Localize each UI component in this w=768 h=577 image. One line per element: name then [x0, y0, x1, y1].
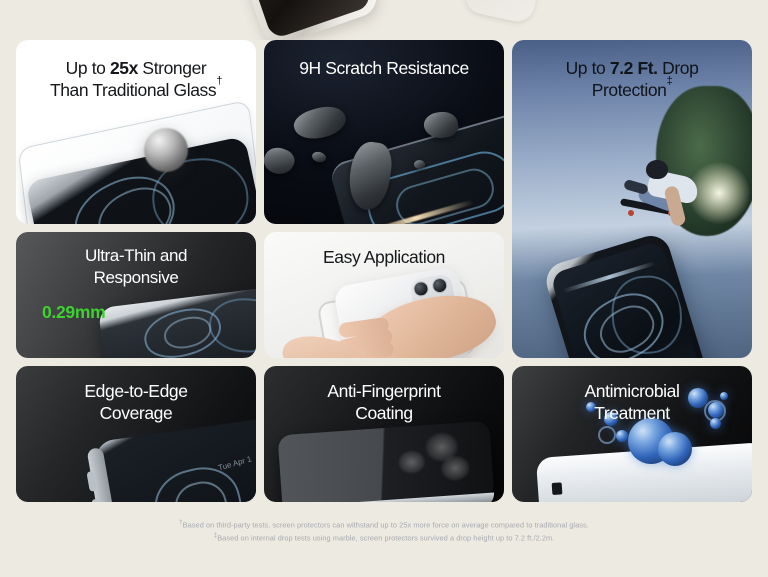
microbe-icon-large: [658, 432, 692, 466]
rock-debris-icon: [291, 101, 350, 146]
thickness-measurement-label: 0.29mm: [42, 302, 105, 323]
drop-title-strong: 7.2 Ft.: [610, 58, 658, 78]
edge-title-line2: Coverage: [100, 403, 173, 423]
fingerprint-smudge-icon: [397, 449, 427, 475]
card-edge-to-edge[interactable]: Tue Apr 1 Edge-to-Edge Coverage: [16, 366, 256, 502]
phone-side-rail: [87, 447, 120, 502]
card-easy-application[interactable]: Easy Application: [264, 232, 504, 358]
screen-wave-graphic: [208, 296, 256, 354]
footnote-line-2: ‡Based on internal drop tests using marb…: [0, 531, 768, 544]
feature-grid: Up to 25x Stronger Than Traditional Glas…: [16, 40, 752, 502]
fingerprint-title-line2: Coating: [355, 403, 413, 423]
card-strength[interactable]: Up to 25x Stronger Than Traditional Glas…: [16, 40, 256, 224]
microbe-icon: [616, 430, 628, 442]
phone-illustration: [98, 280, 256, 358]
camera-lens: [412, 280, 429, 297]
rock-debris-icon: [311, 150, 327, 163]
card-scratch-resistance[interactable]: 9H Scratch Resistance: [264, 40, 504, 224]
drop-footnote-marker: ‡: [666, 75, 672, 87]
ultra-thin-title-line1: Ultra-Thin and: [85, 246, 187, 265]
card-drop-protection[interactable]: Up to 7.2 Ft. Drop Protection‡: [512, 40, 752, 358]
strength-title-strong: 25x: [110, 58, 138, 78]
card-anti-fingerprint[interactable]: Anti-Fingerprint Coating: [264, 366, 504, 502]
antimicrobial-title-line2: Treatment: [594, 403, 670, 423]
strength-title-mid: Stronger: [138, 58, 206, 78]
footnote-text-1: Based on third-party tests, screen prote…: [183, 520, 589, 529]
rock-debris-icon: [264, 143, 298, 178]
footnote-text-2: Based on internal drop tests using marbl…: [217, 533, 554, 542]
card-drop-title: Up to 7.2 Ft. Drop Protection‡: [512, 40, 752, 102]
drop-title-pre: Up to: [566, 58, 610, 78]
footnote-line-1: †Based on third-party tests, screen prot…: [0, 518, 768, 531]
card-ultra-thin[interactable]: Ultra-Thin and Responsive 0.29mm: [16, 232, 256, 358]
volume-button: [91, 498, 101, 502]
card-easy-application-title: Easy Application: [264, 232, 504, 268]
skater-arm: [623, 179, 649, 195]
volume-button: [86, 471, 96, 492]
skateboard-wheel: [628, 210, 634, 216]
ultra-thin-title-line2: Responsive: [94, 268, 179, 287]
footnotes: †Based on third-party tests, screen prot…: [0, 518, 768, 544]
antimicrobial-title-line1: Antimicrobial: [585, 381, 680, 401]
steel-ball-icon: [144, 128, 188, 172]
hero-phone-image: [234, 0, 381, 40]
card-strength-title: Up to 25x Stronger Than Traditional Glas…: [16, 40, 256, 102]
edge-title-line1: Edge-to-Edge: [84, 381, 187, 401]
drop-title-mid: Drop: [658, 58, 699, 78]
phone-illustration: Tue Apr 1: [93, 415, 256, 502]
card-scratch-title: 9H Scratch Resistance: [264, 40, 504, 79]
hero-zone: [0, 0, 768, 40]
card-antimicrobial[interactable]: Antimicrobial Treatment: [512, 366, 752, 502]
card-antimicrobial-title: Antimicrobial Treatment: [512, 366, 752, 425]
strength-footnote-marker: †: [216, 75, 222, 87]
skater-head: [646, 160, 668, 179]
fingerprint-title-line1: Anti-Fingerprint: [327, 381, 440, 401]
strength-title-line2: Than Traditional Glass: [50, 80, 216, 100]
phone-port: [552, 482, 563, 495]
microbe-outline-icon: [598, 426, 616, 444]
screen-wave-graphic: [610, 274, 684, 356]
card-anti-fingerprint-title: Anti-Fingerprint Coating: [264, 366, 504, 425]
rock-debris-icon: [414, 160, 425, 169]
card-ultra-thin-title: Ultra-Thin and Responsive: [16, 232, 256, 289]
drop-title-line2: Protection: [592, 80, 667, 100]
phone-illustration: [278, 421, 495, 502]
hero-phone-screen: [243, 0, 373, 40]
phone-bottom-edge: [283, 493, 495, 502]
fingerprint-smudge-icon: [439, 454, 471, 482]
skateboarder-illustration: [620, 160, 706, 222]
card-edge-to-edge-title: Edge-to-Edge Coverage: [16, 366, 256, 425]
strength-title-pre: Up to: [66, 58, 110, 78]
lockscreen-date-text: Tue Apr 1: [217, 454, 253, 472]
background-shape-decor: [462, 0, 543, 25]
camera-lens: [431, 277, 448, 294]
